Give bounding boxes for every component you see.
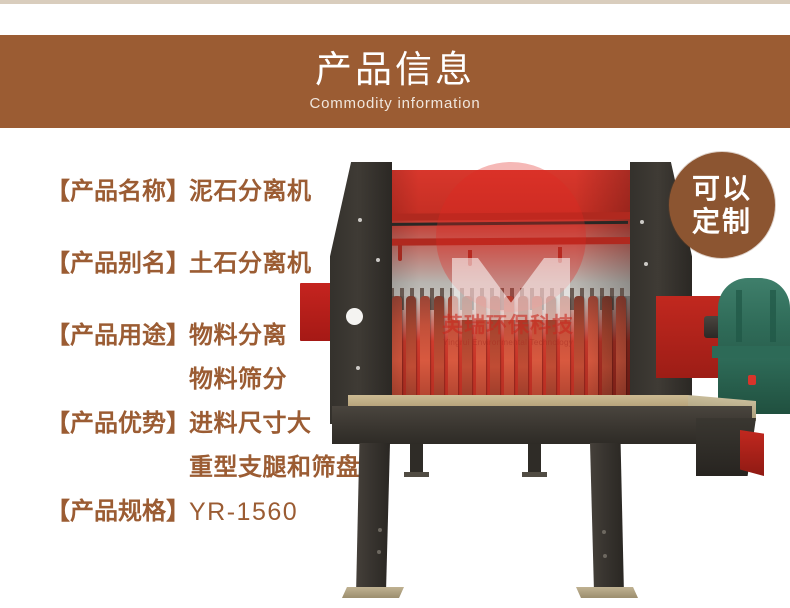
beam-stub-foot bbox=[522, 472, 547, 477]
gearbox-rib bbox=[736, 290, 742, 342]
spec-value: 进料尺寸大 bbox=[189, 410, 312, 438]
page-title: 产品信息 bbox=[315, 49, 475, 91]
leg-bolt bbox=[603, 554, 607, 558]
section-header-banner: 产品信息 Commodity information bbox=[0, 35, 790, 128]
customizable-badge: 可以 定制 bbox=[669, 152, 775, 258]
badge-line-2: 定制 bbox=[692, 205, 752, 238]
spec-value: 土石分离机 bbox=[189, 250, 312, 278]
spec-value: 物料分离 bbox=[189, 322, 287, 350]
spec-label: 【产品别名】 bbox=[46, 250, 189, 278]
support-leg-left bbox=[356, 443, 390, 595]
crossbar-hook bbox=[398, 245, 402, 261]
crossbar-hook bbox=[468, 250, 472, 266]
spec-value: 泥石分离机 bbox=[189, 178, 312, 206]
discharge-flap bbox=[740, 430, 764, 476]
side-frame-left bbox=[330, 162, 392, 424]
frame-bolt bbox=[358, 218, 362, 222]
frame-bolt bbox=[376, 258, 380, 262]
spec-label: 【产品优势】 bbox=[46, 410, 189, 438]
spec-value: 物料筛分 bbox=[189, 366, 287, 394]
beam-stub-foot bbox=[404, 472, 429, 477]
leg-base-plate-right bbox=[576, 587, 638, 598]
leg-base-plate-left bbox=[342, 587, 404, 598]
top-divider-strip bbox=[0, 0, 790, 4]
leg-bolt bbox=[602, 530, 606, 534]
spec-label: 【产品用途】 bbox=[46, 322, 189, 350]
crossbar-hook bbox=[558, 247, 562, 263]
main-support-beam bbox=[332, 406, 752, 444]
frame-hole bbox=[346, 308, 363, 325]
frame-bolt bbox=[640, 220, 644, 224]
frame-bolt bbox=[356, 366, 360, 370]
support-leg-right bbox=[590, 443, 624, 595]
leg-bolt bbox=[377, 550, 381, 554]
gearbox-rib bbox=[770, 290, 776, 342]
badge-line-1: 可以 bbox=[692, 172, 752, 205]
spec-label: 【产品规格】 bbox=[46, 498, 189, 526]
beam-stub bbox=[528, 444, 541, 474]
spec-value-model: YR-1560 bbox=[189, 498, 298, 526]
page-subtitle: Commodity information bbox=[309, 94, 480, 114]
leg-bolt bbox=[378, 528, 382, 532]
gearbox-flange bbox=[712, 346, 790, 358]
beam-stub bbox=[410, 444, 423, 474]
frame-bolt bbox=[644, 262, 648, 266]
spec-label: 【产品名称】 bbox=[46, 178, 189, 206]
product-info-page: 产品信息 Commodity information 【产品名称】 泥石分离机 … bbox=[0, 0, 790, 608]
gearbox-indicator-light bbox=[748, 375, 756, 385]
